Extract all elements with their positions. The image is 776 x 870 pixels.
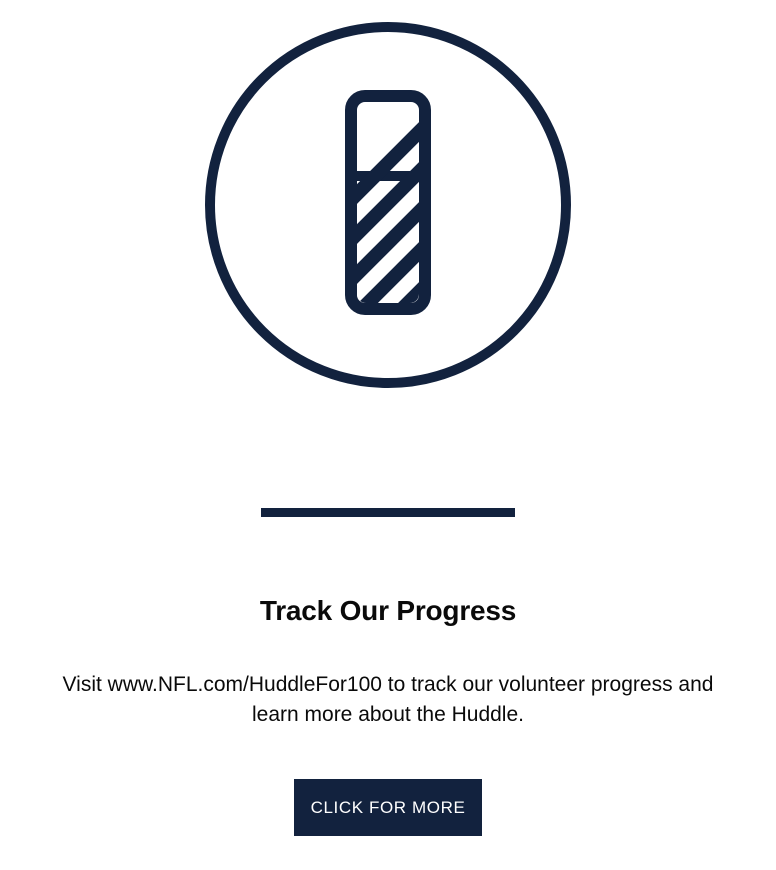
cta-container: CLICK FOR MORE [0, 779, 776, 836]
page-title: Track Our Progress [0, 592, 776, 630]
body-text: Visit www.NFL.com/HuddleFor100 to track … [53, 670, 723, 730]
promo-panel: Track Our Progress Visit www.NFL.com/Hud… [0, 0, 776, 870]
divider-bar [261, 508, 515, 517]
click-for-more-button-label: CLICK FOR MORE [311, 798, 466, 818]
pylon-in-circle-icon [0, 18, 776, 392]
heading-divider [0, 508, 776, 517]
click-for-more-button[interactable]: CLICK FOR MORE [294, 779, 482, 836]
